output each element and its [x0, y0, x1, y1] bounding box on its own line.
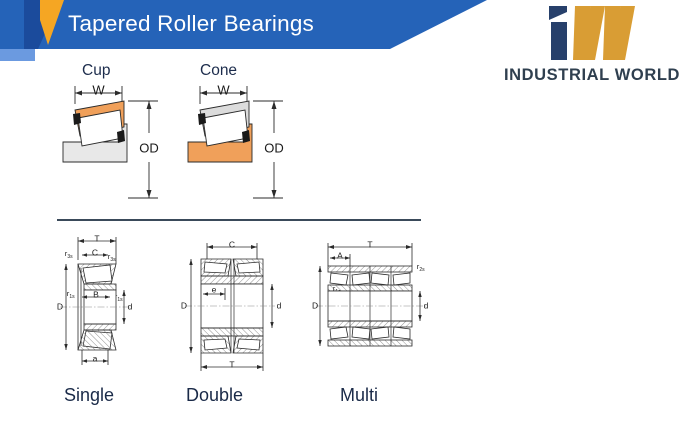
double-c-arrow-r	[251, 245, 257, 249]
multi-d-outer-label: D	[312, 300, 318, 310]
single-d-outer-label: D	[57, 301, 63, 311]
single-t-arrow-r	[110, 239, 116, 243]
multi-d-outer-arrow-b	[318, 340, 321, 346]
figure-single-drawing: T C r 3s r 3s r 1s r 1s	[52, 228, 182, 383]
logo-i-stem	[551, 22, 567, 60]
logo-i-dot	[549, 6, 567, 20]
single-c-arrow-l	[82, 253, 87, 256]
single-d-inner-arrow-t	[122, 290, 125, 296]
figure-multi-drawing: T A r 2s r 1s	[312, 228, 442, 383]
double-d-inner-arrow-b	[270, 322, 273, 328]
double-roller-bottom-right	[237, 339, 260, 350]
single-a-label: a	[93, 353, 98, 363]
cup-od-arrow-top	[147, 101, 152, 109]
figure-cone: Cone W	[180, 62, 305, 212]
double-t-label: T	[229, 359, 234, 369]
single-d-inner-label: d	[128, 301, 133, 311]
cup-od-arrow-bottom	[147, 190, 152, 198]
cone-od-label: OD	[264, 140, 284, 155]
cup-cage-tab-right	[117, 130, 125, 143]
figure-cone-drawing: W OD	[180, 80, 305, 215]
double-roller-top-left	[204, 262, 227, 273]
multi-roller-bottom-3	[371, 327, 389, 339]
figure-multi: T A r 2s r 1s	[312, 228, 442, 428]
double-cone-bottom-band	[201, 328, 263, 336]
cup-w-arrow-left	[75, 91, 82, 96]
multi-roller-top-1	[330, 273, 348, 285]
single-a-arrow-r	[103, 359, 108, 362]
cone-cage-tab-right	[242, 130, 250, 143]
multi-t-label: T	[367, 239, 372, 249]
double-d-outer-arrow-t	[189, 259, 192, 265]
figure-cup-drawing: W OD	[55, 80, 180, 215]
iw-logo-icon	[547, 4, 639, 62]
company-name: INDUSTRIAL WORLD	[487, 66, 697, 85]
figure-cone-caption: Cone	[200, 62, 237, 80]
single-c-label: C	[92, 247, 98, 257]
single-a-arrow-l	[82, 359, 87, 362]
single-roller-top	[83, 265, 112, 283]
double-d-outer-label: D	[181, 300, 187, 310]
multi-roller-bottom-2	[352, 327, 370, 339]
figure-single: T C r 3s r 3s r 1s r 1s	[52, 228, 182, 428]
double-roller-top-right	[237, 262, 260, 273]
single-r3s-right-sub: 3s	[110, 257, 116, 263]
multi-t-arrow-l	[328, 245, 334, 249]
header-light-blue-block	[0, 49, 35, 61]
multi-d-outer-arrow-t	[318, 266, 321, 272]
brand-logo: INDUSTRIAL WORLD	[487, 4, 697, 88]
single-t-arrow-l	[78, 239, 84, 243]
single-r1s-right-sub: 1s	[117, 297, 123, 303]
multi-r2s-sub: 2s	[419, 267, 425, 273]
multi-roller-top-3	[371, 273, 389, 285]
multi-roller-top-2	[352, 273, 370, 285]
multi-a-label: A	[337, 250, 343, 260]
single-r3s-left-sub: 3s	[67, 254, 73, 260]
multi-roller-bottom-4	[393, 327, 410, 339]
double-t-arrow-r	[257, 365, 263, 369]
figure-cup-caption: Cup	[82, 62, 110, 80]
double-d-inner-arrow-t	[270, 284, 273, 290]
page-title: Tapered Roller Bearings	[68, 11, 314, 37]
slide-page: Tapered Roller Bearings INDUSTRIAL WORLD…	[0, 0, 700, 431]
single-r1s-left-sub: 1s	[69, 294, 75, 300]
cone-w-label: W	[217, 82, 230, 97]
cone-od-arrow-bottom	[272, 190, 277, 198]
cone-w-arrow-right	[240, 91, 247, 96]
single-cone-bottom	[84, 324, 116, 330]
single-cup-bottom	[78, 330, 116, 350]
multi-d-inner-arrow-t	[418, 291, 421, 297]
double-c-label: C	[229, 239, 235, 249]
header-dark-triangle-2	[0, 0, 22, 49]
single-cone-top	[84, 284, 116, 290]
figure-multi-caption: Multi	[340, 385, 378, 406]
figure-double: C	[175, 228, 305, 428]
multi-roller-top-4	[393, 273, 410, 285]
single-d-outer-arrow-t	[64, 264, 67, 270]
multi-d-inner-arrow-b	[418, 315, 421, 321]
multi-d-inner-label: d	[424, 300, 429, 310]
multi-a-arrow-l	[330, 256, 335, 259]
single-t-label: T	[94, 233, 99, 243]
cone-od-arrow-top	[272, 101, 277, 109]
figure-single-caption: Single	[64, 385, 114, 406]
double-e-label: e	[212, 284, 217, 294]
double-roller-bottom-left	[204, 339, 227, 350]
cone-cage-tab-left	[198, 113, 206, 125]
double-t-arrow-l	[201, 365, 207, 369]
multi-roller-bottom-1	[330, 327, 348, 339]
cup-w-label: W	[92, 82, 105, 97]
single-d-outer-arrow-b	[64, 344, 67, 350]
figure-double-caption: Double	[186, 385, 243, 406]
cup-od-label: OD	[139, 140, 159, 155]
cup-w-arrow-right	[115, 91, 122, 96]
single-b-label: B	[93, 289, 99, 299]
single-d-inner-arrow-b	[122, 318, 125, 324]
double-d-outer-arrow-b	[189, 347, 192, 353]
figure-double-drawing: C	[175, 228, 305, 383]
figure-cup: Cup W	[55, 62, 180, 212]
double-c-arrow-l	[207, 245, 213, 249]
double-d-inner-label: d	[277, 300, 282, 310]
multi-t-arrow-r	[406, 245, 412, 249]
cone-w-arrow-left	[200, 91, 207, 96]
cup-cage-tab-left	[73, 113, 81, 125]
double-cone-top-band	[201, 276, 263, 284]
multi-a-arrow-r	[345, 256, 350, 259]
section-divider	[57, 219, 421, 221]
